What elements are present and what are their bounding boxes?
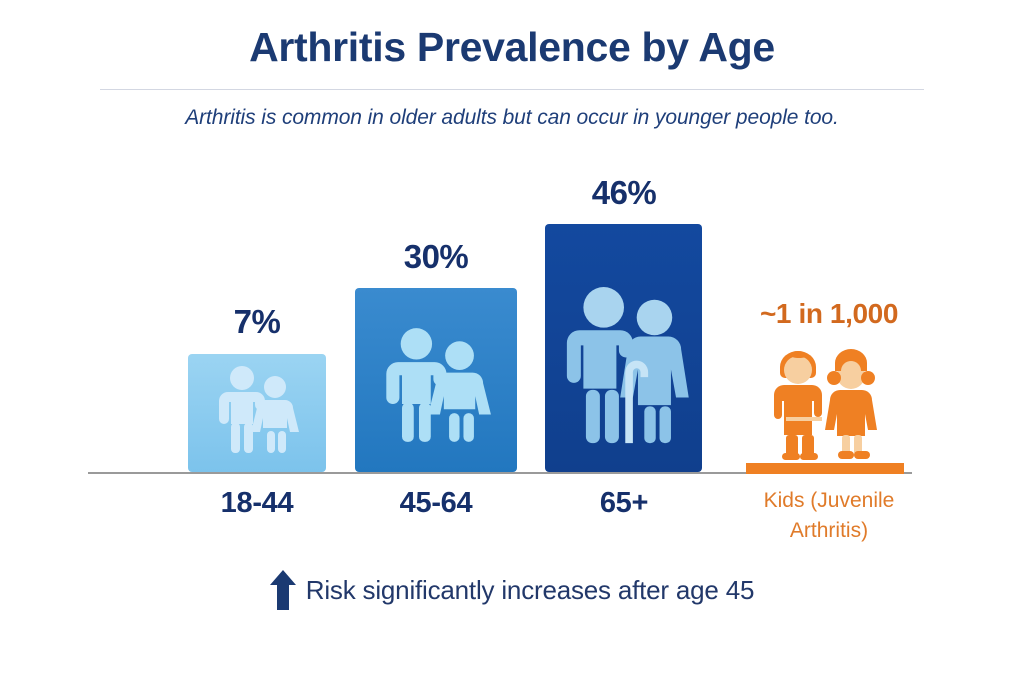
category-label-65-plus: 65+ xyxy=(545,487,703,520)
bar-value-label-65-plus: 46% xyxy=(545,174,703,212)
juvenile-label-line2: Arthritis) xyxy=(714,516,944,546)
arthritis-prevalence-infographic: Arthritis Prevalence by Age Arthritis is… xyxy=(0,0,1024,683)
juvenile-platform-bar xyxy=(746,463,904,474)
bar-value-label-18-44: 7% xyxy=(178,303,336,341)
adult-couple-icon xyxy=(368,317,504,462)
category-label-18-44: 18-44 xyxy=(178,487,336,520)
category-label-juvenile: Kids (Juvenile Arthritis) xyxy=(714,486,944,546)
adult-couple-icon xyxy=(205,361,309,466)
category-label-45-64: 45-64 xyxy=(357,487,515,520)
bar-18-44[interactable] xyxy=(188,354,326,472)
child-girl-icon xyxy=(825,349,877,459)
arrow-up-icon xyxy=(270,570,296,610)
juvenile-figures[interactable] xyxy=(752,345,892,463)
juvenile-value-label: ~1 in 1,000 xyxy=(714,298,944,330)
child-boy-icon xyxy=(774,351,822,460)
bar-65-plus[interactable] xyxy=(545,224,702,472)
footer-note: Risk significantly increases after age 4… xyxy=(0,570,1024,610)
juvenile-label-line1: Kids (Juvenile xyxy=(714,486,944,516)
footer-note-text: Risk significantly increases after age 4… xyxy=(306,575,754,606)
elderly-couple-cane-icon xyxy=(558,279,690,460)
bar-value-label-45-64: 30% xyxy=(357,238,515,276)
bar-45-64[interactable] xyxy=(355,288,517,472)
